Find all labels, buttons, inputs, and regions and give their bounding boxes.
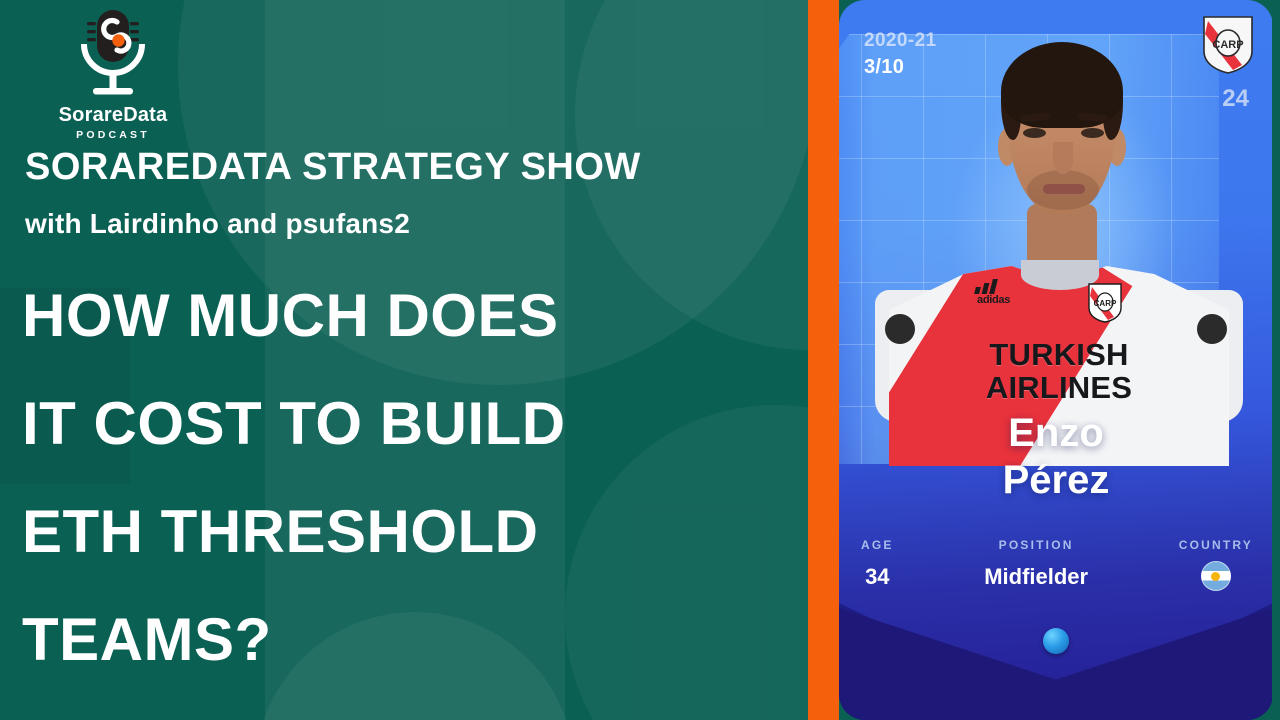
stat-age: AGE 34 (861, 538, 894, 590)
logo-subtitle: PODCAST (38, 129, 188, 141)
card-bottom-chevron (839, 608, 1273, 720)
stat-position-label: POSITION (984, 538, 1088, 552)
card-jersey-number: 24 (1222, 85, 1249, 113)
sorare-player-card: adidas CARP TURKISH AIRLINES 2020-21 3/1… (839, 0, 1273, 720)
headline-line-1: HOW MUCH DOES (22, 262, 792, 370)
river-plate-crest-icon: CARP (1087, 282, 1123, 324)
logo-wordmark: SorareData (38, 104, 188, 126)
player-eye-right (1081, 128, 1104, 138)
player-eye-left (1023, 128, 1046, 138)
left-panel: SorareData PODCAST SORAREDATA STRATEGY S… (0, 0, 808, 720)
svg-text:CARP: CARP (1094, 299, 1117, 308)
stat-country: COUNTRY (1179, 538, 1253, 591)
adidas-logo-icon (975, 280, 1001, 294)
player-name: Enzo Pérez (839, 410, 1273, 504)
show-title: SORAREDATA STRATEGY SHOW (25, 146, 641, 189)
card-season: 2020-21 (864, 30, 937, 52)
thumbnail-stage: SorareData PODCAST SORAREDATA STRATEGY S… (0, 0, 1280, 720)
headline-line-2: IT COST TO BUILD (22, 370, 792, 478)
brand-logo: SorareData PODCAST (38, 8, 188, 141)
right-edge-strip (1272, 0, 1280, 720)
jersey-sponsor-line-1: TURKISH (879, 338, 1239, 371)
headline-line-3: ETH THRESHOLD (22, 478, 792, 586)
kit-brand-label: adidas (977, 294, 1010, 306)
stat-position: POSITION Midfielder (984, 538, 1088, 590)
show-hosts: with Lairdinho and psufans2 (25, 208, 410, 240)
player-photo: adidas CARP TURKISH AIRLINES (879, 8, 1239, 458)
argentina-flag-icon (1201, 561, 1231, 591)
player-first-name: Enzo (839, 410, 1273, 457)
stat-country-label: COUNTRY (1179, 538, 1253, 552)
player-last-name: Pérez (839, 457, 1273, 504)
headline: HOW MUCH DOES IT COST TO BUILD ETH THRES… (22, 262, 792, 694)
player-mouth (1043, 184, 1085, 194)
scarcity-orb-icon (1043, 628, 1069, 654)
podcast-microphone-icon (38, 8, 188, 103)
stat-position-value: Midfielder (984, 564, 1088, 590)
stat-age-label: AGE (861, 538, 894, 552)
card-serial-number: 3/10 (864, 56, 904, 79)
river-plate-crest-icon: CARP (1201, 14, 1255, 76)
player-nose (1053, 142, 1073, 174)
jersey-sponsor: TURKISH AIRLINES (879, 338, 1239, 404)
jersey-sponsor-line-2: AIRLINES (879, 371, 1239, 404)
card-stats-row: AGE 34 POSITION Midfielder COUNTRY (861, 538, 1253, 591)
svg-text:CARP: CARP (1212, 39, 1243, 51)
headline-line-4: TEAMS? (22, 586, 792, 694)
orange-divider (808, 0, 839, 720)
player-card-area: adidas CARP TURKISH AIRLINES 2020-21 3/1… (839, 0, 1280, 720)
stat-age-value: 34 (861, 564, 894, 590)
